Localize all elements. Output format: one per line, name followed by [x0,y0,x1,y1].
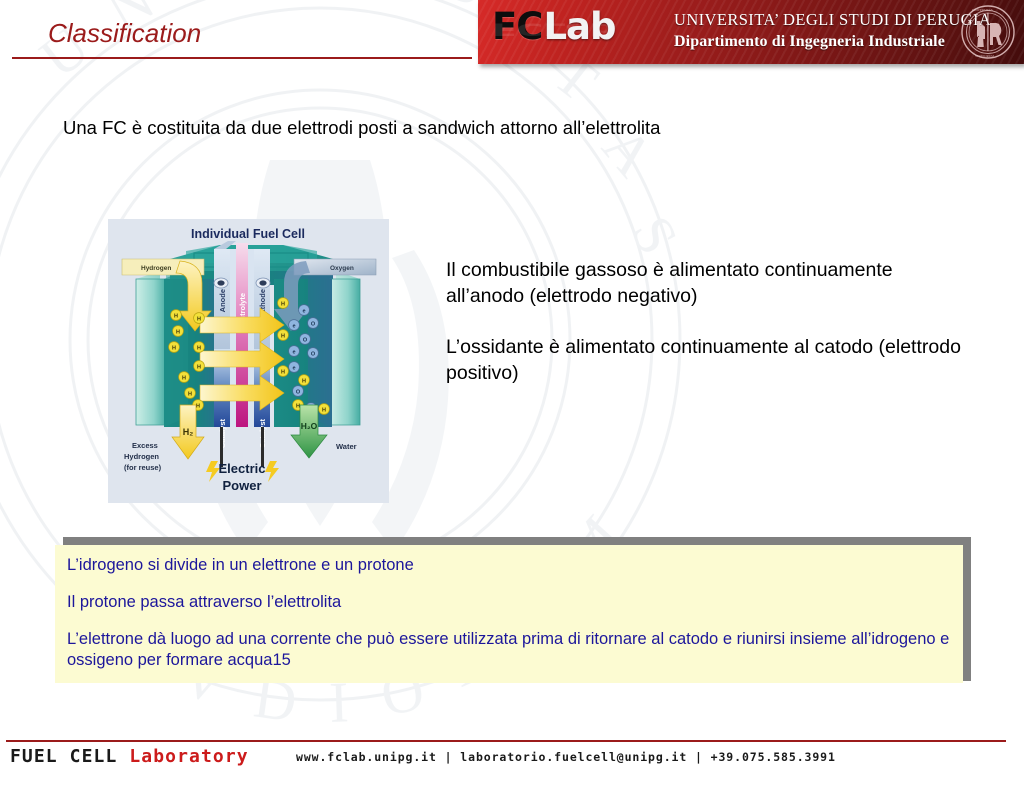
figure-label-hydrogen: Hydrogen [141,265,171,272]
university-name: UNIVERSITA’ DEGLI STUDI DI PERUGIA [674,10,991,30]
intro-sentence: Una FC è costituita da due elettrodi pos… [63,117,660,139]
figure-label-oxygen: Oxygen [330,265,354,272]
figure-proton-arrows [200,308,284,410]
svg-text:UNIVERSITAS: UNIVERSITAS [972,8,993,12]
fuel-cell-diagram-image: Individual Fuel Cell Anode Electrolyte C… [108,219,389,503]
department-name: Dipartimento di Ingegneria Industriale [674,33,991,51]
svg-text:H: H [176,329,180,335]
callout-line-1: L’idrogeno si divide in un elettrone e u… [67,555,951,576]
footer-brand-fuelcell: FUEL CELL [10,746,117,767]
footer-rule [6,740,1006,742]
svg-text:H: H [197,364,201,370]
svg-text:O: O [311,321,316,327]
svg-text:e: e [292,323,295,329]
callout-line-3: L’elettrone dà luogo ad una corrente che… [67,629,951,671]
figure-label-water: Water [336,442,357,451]
figure-title: Individual Fuel Cell [191,227,305,241]
svg-text:H: H [296,403,300,409]
svg-text:I: I [172,0,216,10]
svg-text:H: H [281,301,285,307]
figure-label-electric: Electric [219,461,266,476]
footer-contact-info: www.fclab.unipg.it | laboratorio.fuelcel… [296,750,836,764]
logo-reflection: FCLab [492,20,614,39]
figure-label-excess-1: Excess [132,441,158,450]
svg-text:O: O [303,337,308,343]
svg-text:e: e [292,349,295,355]
svg-text:H: H [196,403,200,409]
footer-brand: FUEL CELL Laboratory [10,746,249,767]
fuel-cell-svg: Individual Fuel Cell Anode Electrolyte C… [108,219,389,503]
right-text-column: Il combustibile gassoso è alimentato con… [446,258,976,387]
footer-brand-laboratory: Laboratory [129,746,248,767]
svg-text:H: H [322,407,326,413]
right-paragraph-2: L’ossidante è alimentato continuamente a… [446,335,976,386]
title-underline [12,57,472,59]
figure-label-excess-3: (for reuse) [124,463,162,472]
callout-box: L’idrogeno si divide in un elettrone e u… [55,545,963,683]
svg-text:H: H [302,378,306,384]
svg-text:H: H [188,391,192,397]
page-title: Classification [48,18,201,49]
svg-text:H: H [281,369,285,375]
figure-label-h2: H₂ [183,427,194,437]
svg-text:e: e [302,308,305,314]
figure-label-h2o: H₂O [301,421,318,431]
svg-text:H: H [172,345,176,351]
svg-text:O: O [311,351,316,357]
fclab-logo: FCLab FCLab [492,5,615,47]
svg-text:H: H [174,313,178,319]
figure-label-power: Power [222,478,261,493]
callout-line-2: Il protone passa attraverso l’elettrolit… [67,592,951,613]
svg-text:H: H [197,345,201,351]
svg-text:e: e [292,365,295,371]
university-titles: UNIVERSITA’ DEGLI STUDI DI PERUGIA Dipar… [674,10,991,51]
university-seal-icon: UNIVERSITAS STUDIORUM [960,4,1016,60]
svg-text:STUDIORUM: STUDIORUM [975,54,994,58]
right-paragraph-1: Il combustibile gassoso è alimentato con… [446,258,976,309]
svg-text:H: H [281,333,285,339]
svg-text:H: H [197,316,201,322]
header-banner: FCLab FCLab UNIVERSITA’ DEGLI STUDI DI P… [478,0,1024,64]
svg-text:O: O [296,389,301,395]
figure-label-anode: Anode [218,289,227,312]
svg-text:H: H [182,375,186,381]
figure-label-excess-2: Hydrogen [124,452,159,461]
